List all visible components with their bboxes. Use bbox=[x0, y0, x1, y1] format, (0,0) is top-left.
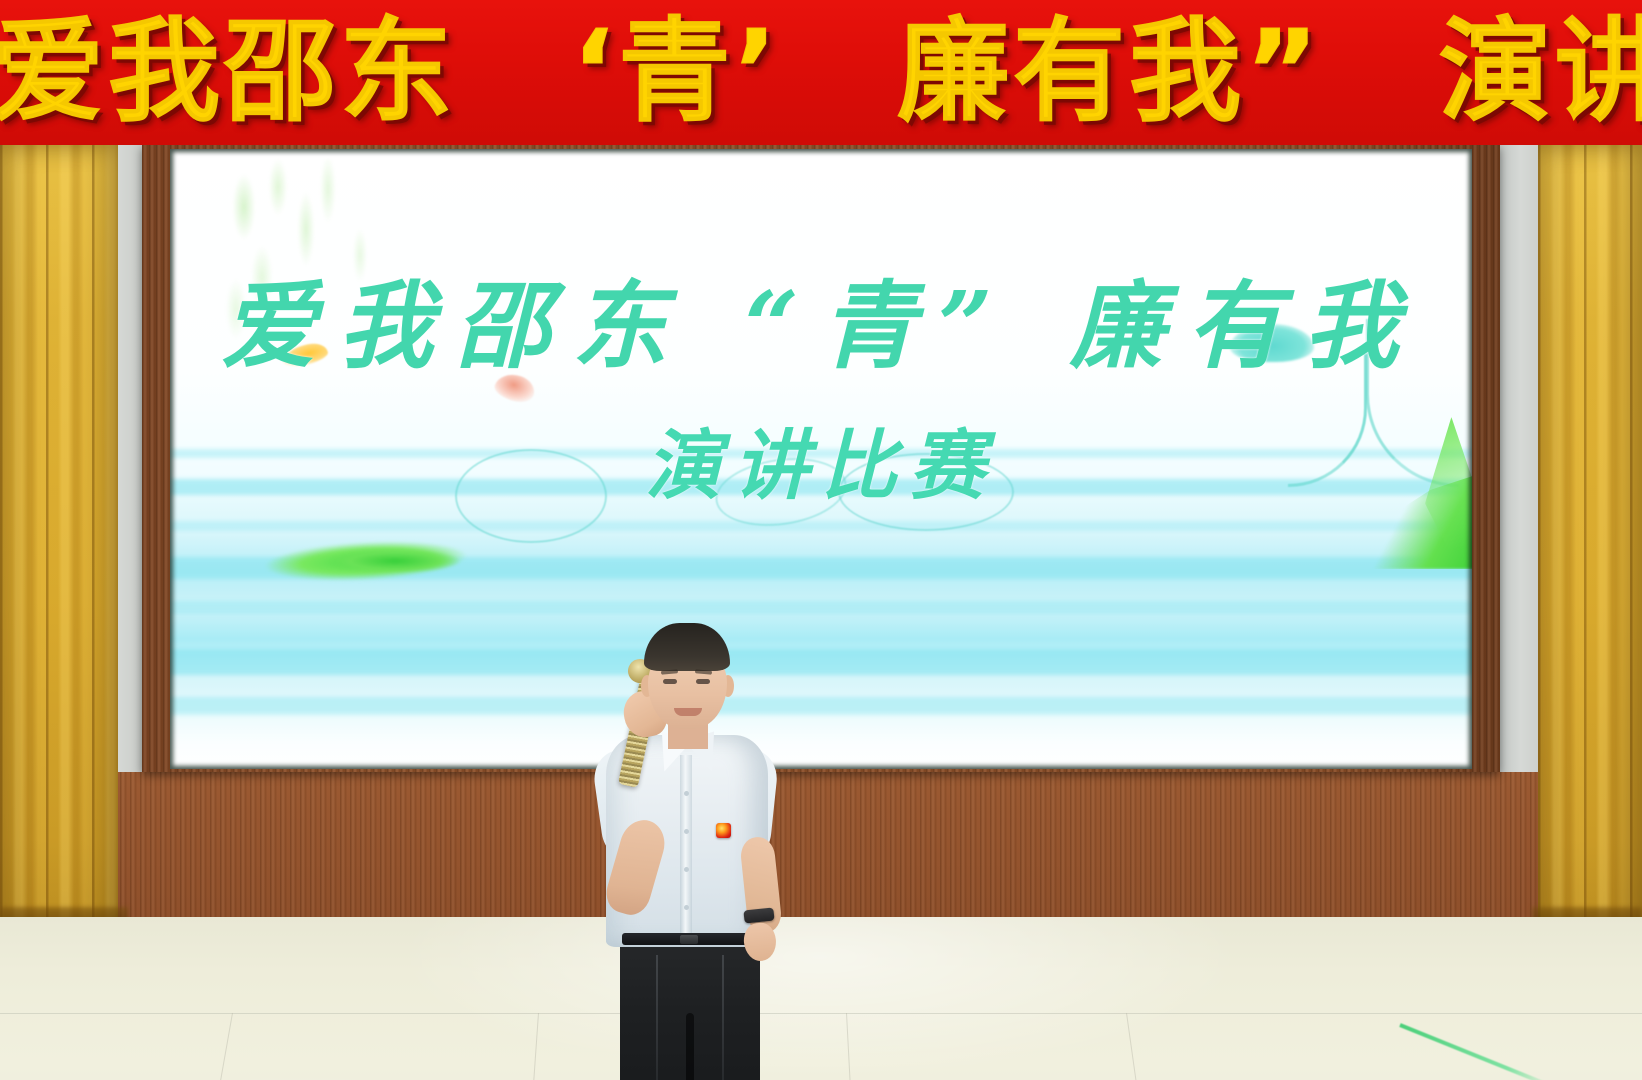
shirt-button bbox=[684, 905, 689, 910]
shirt-button bbox=[684, 829, 689, 834]
auditorium-room: 爱我邵东 “青” 廉有我 演讲比赛 bbox=[0, 145, 1642, 1080]
water-band bbox=[170, 601, 1472, 614]
water-band bbox=[170, 521, 1472, 531]
water-band bbox=[170, 649, 1472, 675]
stage-curtain-left bbox=[0, 145, 118, 935]
speaker-mouth bbox=[674, 708, 702, 716]
trouser-crease bbox=[722, 955, 724, 1080]
floor-reflection bbox=[0, 917, 1642, 1080]
event-title-banner: 爱我邵东 ‘青’ 廉有我” 演讲比赛 bbox=[0, 0, 1642, 145]
floor-tile-line bbox=[0, 1013, 1642, 1014]
stage-floor bbox=[0, 917, 1642, 1080]
banner-title-text: 爱我邵东 ‘青’ 廉有我” 演讲比赛 bbox=[0, 8, 1642, 136]
speaker-eye-left bbox=[663, 679, 677, 684]
speaker-person bbox=[568, 623, 808, 1080]
shirt-placket bbox=[680, 755, 692, 945]
belt-buckle bbox=[680, 935, 698, 944]
lotus-leaf-icon bbox=[320, 547, 470, 575]
shirt-button bbox=[684, 791, 689, 796]
screen-title-text: 爱我邵东 “青” 廉有我 bbox=[170, 271, 1472, 383]
projection-screen: 爱我邵东 “青” 廉有我 演讲比赛 bbox=[170, 149, 1472, 769]
speaker-hair bbox=[644, 623, 730, 671]
stage-scene: 爱我邵东 ‘青’ 廉有我” 演讲比赛 bbox=[0, 0, 1642, 1080]
party-emblem-badge-icon bbox=[716, 823, 731, 838]
shirt-button bbox=[684, 867, 689, 872]
speaker-eye-right bbox=[696, 679, 710, 684]
screen-subtitle-text: 演讲比赛 bbox=[170, 421, 1472, 511]
stage-curtain-right bbox=[1538, 145, 1642, 935]
screen-bottom-highlight bbox=[170, 709, 1472, 769]
trouser-crease bbox=[656, 955, 658, 1080]
trouser-leg-gap bbox=[686, 1013, 694, 1080]
